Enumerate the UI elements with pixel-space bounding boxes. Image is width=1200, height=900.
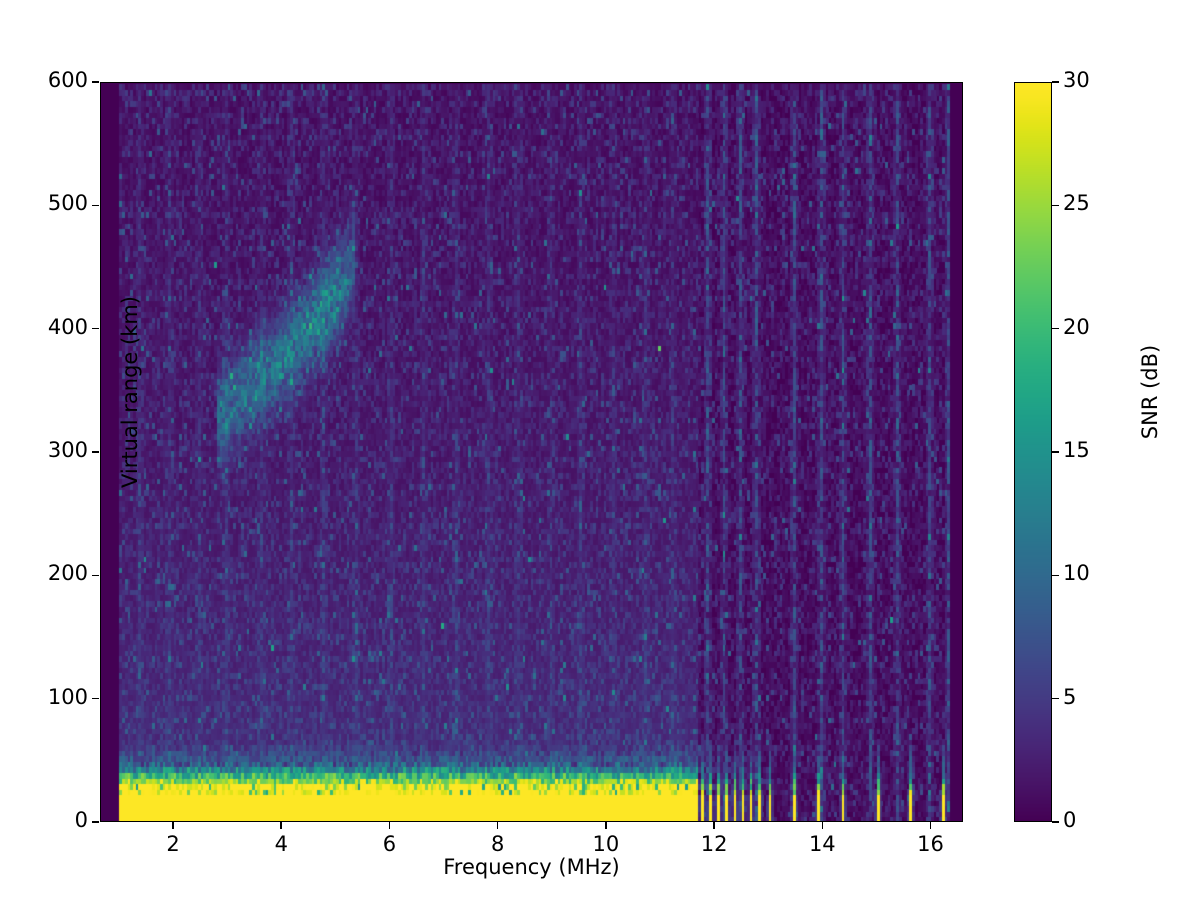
x-tick-label: 12	[654, 832, 774, 856]
colorbar-label: SNR (dB)	[1138, 242, 1162, 542]
y-tick-label: 100	[0, 685, 88, 709]
y-tick-label: 300	[0, 438, 88, 462]
y-tick-mark	[92, 81, 99, 83]
y-tick-mark	[92, 698, 99, 700]
y-tick-mark	[92, 821, 99, 823]
colorbar-tick-mark	[1052, 81, 1059, 83]
colorbar-tick-mark	[1052, 205, 1059, 207]
colorbar-tick-label: 25	[1063, 191, 1143, 215]
x-tick-mark	[497, 822, 499, 829]
y-tick-label: 500	[0, 191, 88, 215]
y-tick-mark	[92, 205, 99, 207]
y-tick-mark	[92, 328, 99, 330]
y-tick-label: 0	[0, 808, 88, 832]
colorbar-tick-label: 0	[1063, 808, 1143, 832]
y-tick-label: 600	[0, 68, 88, 92]
colorbar-tick-mark	[1052, 575, 1059, 577]
y-tick-label: 400	[0, 315, 88, 339]
ionogram-heatmap	[101, 83, 963, 822]
colorbar-tick-label: 30	[1063, 68, 1143, 92]
x-tick-label: 8	[438, 832, 558, 856]
y-tick-label: 200	[0, 561, 88, 585]
x-tick-mark	[605, 822, 607, 829]
x-tick-label: 2	[113, 832, 233, 856]
colorbar-gradient	[1015, 83, 1051, 821]
ionogram-figure: IRF Kiruna Ionosonde KI167 2025-10-12 21…	[0, 0, 1200, 900]
x-tick-label: 10	[546, 832, 666, 856]
y-tick-mark	[92, 575, 99, 577]
x-tick-mark	[930, 822, 932, 829]
x-tick-mark	[822, 822, 824, 829]
x-tick-mark	[280, 822, 282, 829]
colorbar	[1014, 82, 1052, 822]
plot-area	[100, 82, 963, 822]
x-tick-label: 14	[762, 832, 882, 856]
y-axis-label: Virtual range (km)	[118, 242, 142, 542]
colorbar-tick-label: 5	[1063, 685, 1143, 709]
x-tick-label: 16	[871, 832, 991, 856]
colorbar-tick-mark	[1052, 821, 1059, 823]
y-tick-mark	[92, 451, 99, 453]
x-tick-label: 6	[329, 832, 449, 856]
colorbar-tick-label: 10	[1063, 561, 1143, 585]
colorbar-tick-label: 20	[1063, 315, 1143, 339]
x-axis-label: Frequency (MHz)	[100, 855, 963, 879]
x-tick-mark	[713, 822, 715, 829]
x-tick-mark	[172, 822, 174, 829]
colorbar-tick-mark	[1052, 698, 1059, 700]
x-tick-mark	[389, 822, 391, 829]
colorbar-tick-label: 15	[1063, 438, 1143, 462]
colorbar-tick-mark	[1052, 328, 1059, 330]
colorbar-tick-mark	[1052, 451, 1059, 453]
x-tick-label: 4	[221, 832, 341, 856]
